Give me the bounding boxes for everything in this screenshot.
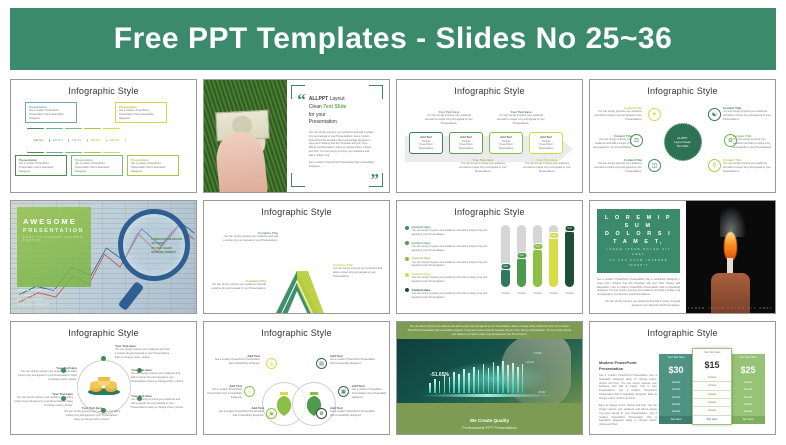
bag-icon[interactable]: ⚲ bbox=[708, 159, 721, 172]
lens-line4: INTEGRE IMPEDIT bbox=[151, 250, 182, 254]
slide-6-title: Infographic Style bbox=[204, 201, 389, 217]
slide-9-callout-5: Your Text Here You can simply impress yo… bbox=[63, 406, 121, 421]
slide-thumbnail-1[interactable]: Infographic Style Presentation Get a mod… bbox=[10, 79, 197, 193]
bullet-dot-icon bbox=[405, 226, 409, 230]
callout-body: Get a modern PowerPoint Presentation tha… bbox=[29, 109, 73, 120]
callout-body: Get a modern PowerPoint Presentation tha… bbox=[75, 162, 119, 173]
slide-7-bullet-list: Content Here You can simply impress your… bbox=[405, 225, 489, 303]
hub-line3: Text Slide bbox=[674, 144, 690, 148]
header-banner: Free PPT Templates - Slides No 25~36 bbox=[10, 8, 776, 70]
top-paragraph: You can simply impress your audience and… bbox=[407, 325, 572, 337]
slide-5-subtitle: EASY TO CHANGE COLORS, PHOTOS. bbox=[23, 236, 91, 242]
column-cell: Content bbox=[659, 394, 693, 401]
footer-line2: Professional PPT Presentation bbox=[397, 425, 582, 430]
heading-textslide: Text Slide bbox=[323, 104, 346, 110]
caption-body: You can simply impress your audience and… bbox=[210, 283, 266, 291]
column-cell: Content bbox=[731, 394, 765, 401]
heading-presentation: Presentation bbox=[309, 119, 374, 127]
gear-icon[interactable]: ⚙ bbox=[316, 408, 327, 419]
slide-6-caption-2: Contents Title You can simply impress yo… bbox=[210, 279, 266, 291]
slide-3-arrow-diagram: Your Text Here You can simply impress yo… bbox=[397, 96, 582, 176]
left-heading-line1: Modern PowerPoint bbox=[599, 360, 637, 365]
slide-thumbnail-7[interactable]: Infographic Style Content Here You can s… bbox=[396, 200, 583, 314]
arrow-step-box-2[interactable]: Add Text Simple PowerPoint Presentation bbox=[489, 132, 523, 154]
slide-10-title: Infographic Style bbox=[204, 322, 389, 338]
left-body: Get a modern PowerPoint Presentation tha… bbox=[599, 374, 657, 400]
heading-foryour: for your bbox=[309, 112, 374, 120]
callout-body: Get a modern PowerPoint Presentation tha… bbox=[19, 162, 63, 173]
item-body: Get a modern PowerPoint Presentation tha… bbox=[330, 410, 376, 418]
slide-9-callout-3: Your Text Here You can simply impress yo… bbox=[17, 366, 77, 381]
column-price: $25 bbox=[731, 362, 765, 379]
column-cell: Content bbox=[659, 379, 693, 386]
cart-icon[interactable]: ☼ bbox=[244, 386, 255, 397]
awesome-heading: AWESOME bbox=[23, 217, 91, 226]
footer-line1: We Create Quality bbox=[397, 418, 582, 423]
slide-2-layout: “ ALLPPT Layout Clean Text Slide for you… bbox=[204, 80, 389, 192]
bullet-body: You can simply impress your audience and… bbox=[412, 229, 490, 237]
slide-8-photo-caption: LOREM IPSUM DOLOR SIT AMET bbox=[686, 306, 775, 310]
slide-3-caption-0: Your Text Here You can simply impress yo… bbox=[425, 110, 473, 125]
slide-1-callout-1: Presentation Get a modern PowerPoint Pre… bbox=[115, 102, 167, 123]
bullet-dot-icon bbox=[405, 273, 409, 277]
bullet-item: Content Here You can simply impress your… bbox=[405, 288, 489, 300]
pricing-table: Your Text Here $30 Content Content Conte… bbox=[659, 354, 765, 425]
slide-7-title: Infographic Style bbox=[397, 201, 582, 217]
bullet-body: You can simply impress your audience and… bbox=[412, 276, 490, 284]
slide-thumbnail-11[interactable]: You can simply impress your audience and… bbox=[396, 321, 583, 435]
slide-3-title: Infographic Style bbox=[397, 80, 582, 96]
column-cell: Content bbox=[731, 386, 765, 393]
left-heading: Modern PowerPoint Presentation bbox=[599, 360, 657, 371]
spoke-body: You can simply impress your audience and… bbox=[592, 138, 632, 149]
heading-layout: Layout bbox=[330, 96, 345, 102]
bullet-item: Content Here You can simply impress your… bbox=[405, 272, 489, 284]
band-line1: L O R E M I P S U M bbox=[601, 214, 676, 230]
chevron-step-0[interactable]: Add Text bbox=[27, 128, 50, 153]
slide-5-footer: LOREM IPSUM DOLOR SIT AMET, CU USU AGAM … bbox=[17, 288, 56, 307]
slide-thumbnail-10[interactable]: Infographic Style ◎ ▤ ☼ ▦ ▣ ⚙ bbox=[203, 321, 390, 435]
bullet-item: Content Here You can simply impress your… bbox=[405, 256, 489, 268]
bullet-body: You can simply impress your audience and… bbox=[412, 261, 490, 269]
slider-knob-0[interactable]: Text bbox=[500, 263, 511, 270]
column-cell: Content bbox=[693, 391, 731, 399]
pricing-column-1[interactable]: Your Text Here $15 Content Content Conte… bbox=[692, 348, 732, 425]
spoke-body: You can simply impress your audience and… bbox=[594, 162, 642, 173]
spoke-body: You can simply impress your audience and… bbox=[723, 162, 771, 173]
band-line2: D O L O R S I T A M E T, bbox=[601, 230, 676, 246]
column-footer: Text Here bbox=[731, 416, 765, 424]
slider-track-0[interactable]: Text bbox=[501, 225, 510, 287]
penrose-triangle-graphic: Your Text Here bbox=[262, 269, 332, 314]
smoke-graphic bbox=[720, 205, 747, 236]
column-footer: Text Here bbox=[659, 416, 693, 424]
slider-track-1[interactable]: Text bbox=[517, 225, 526, 287]
gold-coins-icon bbox=[87, 375, 121, 395]
slide-3-caption-1: Your Text Here You can simply impress yo… bbox=[497, 110, 545, 125]
column-cell: Content bbox=[693, 382, 731, 390]
bullet-dot-icon bbox=[405, 241, 409, 245]
box-icon[interactable]: ▣ bbox=[266, 408, 277, 419]
slide-12-left-text: Modern PowerPoint Presentation Get a mod… bbox=[599, 360, 657, 427]
item-body: Get a modern PowerPoint Presentation tha… bbox=[330, 358, 380, 366]
leaf-icon: ✿ bbox=[675, 313, 680, 314]
callout-body: You can simply impress your audience and… bbox=[63, 410, 121, 421]
slide-4-hub-diagram: ALLPPT Layout Clean Text Slide ☀ ☯ ⚖ ✿ ◫… bbox=[590, 96, 775, 178]
box-line3: Presentation bbox=[499, 147, 514, 151]
bulb-icon[interactable]: ☀ bbox=[648, 108, 661, 121]
slider-track-3[interactable]: Text bbox=[549, 225, 558, 287]
item-body: Get a modern PowerPoint Presentation tha… bbox=[204, 388, 242, 399]
stat-2: +75.2M bbox=[533, 352, 541, 355]
slider-fill-0 bbox=[501, 268, 510, 287]
slide-4-spoke-text-3: Content Title You can simply impress you… bbox=[733, 134, 773, 149]
caption-body: You can simply impress your audience and… bbox=[497, 114, 545, 125]
slide-2-body2: Get a modern PowerPoint Presentation tha… bbox=[309, 161, 374, 169]
footer-line4: INTEGRE IMPEDIT bbox=[17, 302, 56, 307]
heading-clean: Clean bbox=[309, 104, 322, 110]
dollar-on-grass-photo bbox=[204, 80, 287, 192]
slide-6-triangle-diagram: Contents Title You can simply impress yo… bbox=[204, 217, 389, 299]
arrow-step-box-0[interactable]: Add Text Simple PowerPoint Presentation bbox=[409, 132, 443, 154]
slide-8-green-band: L O R E M I P S U M D O L O R S I T A M … bbox=[597, 209, 680, 273]
slide-3-caption-3: Your Text Here You can simply impress yo… bbox=[523, 158, 571, 173]
briefcase-icon[interactable]: ▤ bbox=[316, 358, 327, 369]
spoke-body: You can simply impress your audience and… bbox=[733, 138, 773, 149]
box-line3: Presentation bbox=[459, 147, 474, 151]
slide-6-caption-0: Contents Title You can simply impress yo… bbox=[222, 231, 278, 243]
stat-3: +18.4% bbox=[526, 361, 534, 364]
slider-track-2[interactable]: Text bbox=[533, 225, 542, 287]
slide-12-title: Infographic Style bbox=[590, 322, 775, 338]
slide-2-heading: ALLPPT Layout Clean Text Slide for your … bbox=[309, 96, 374, 127]
slide-4-title: Infographic Style bbox=[590, 80, 775, 96]
slide-thumbnail-5[interactable]: LOREM IPSUM DOLOR SIT AMET, CU USU AGAM … bbox=[10, 200, 197, 314]
column-cell: Content bbox=[659, 408, 693, 415]
slider-fill-4 bbox=[565, 230, 574, 287]
slide-1-callout-3: Presentation Get a modern PowerPoint Pre… bbox=[71, 155, 123, 176]
slide-9-circle-diagram: Your Text Here You can simply impress yo… bbox=[11, 338, 196, 422]
slide-9-callout-2: Your Text Here You can simply impress yo… bbox=[131, 394, 185, 409]
box-line3: Presentation bbox=[539, 147, 554, 151]
callout-body: You can simply impress your audience and… bbox=[131, 398, 185, 409]
slide-10-item-3: Add Text Get a modern PowerPoint Present… bbox=[352, 384, 390, 399]
item-body: Get a modern PowerPoint Presentation tha… bbox=[210, 358, 260, 366]
frame-corner-bl bbox=[291, 173, 305, 187]
stat-4: 38.2M bbox=[538, 391, 545, 394]
slider-fill-2 bbox=[533, 249, 542, 287]
slide-thumbnail-6[interactable]: Infographic Style Contents Title You can… bbox=[203, 200, 390, 314]
slide-8-layout: L O R E M I P S U M D O L O R S I T A M … bbox=[590, 201, 775, 313]
callout-body: You can simply impress your audience and… bbox=[115, 348, 171, 359]
slide-1-callout-0: Presentation Get a modern PowerPoint Pre… bbox=[25, 102, 77, 123]
slide-10-item-2: Add Text Get a modern PowerPoint Present… bbox=[204, 384, 242, 399]
slide-4-spoke-text-4: Content Title You can simply impress you… bbox=[594, 158, 642, 173]
heading-allppt: ALLPPT bbox=[309, 96, 328, 102]
page-root: Free PPT Templates - Slides No 25~36 Inf… bbox=[0, 0, 786, 445]
spoke-body: You can simply impress your audience and… bbox=[594, 110, 642, 121]
slide-1-callout-4: Presentation Get a modern PowerPoint Pre… bbox=[127, 155, 179, 176]
slide-thumbnail-3[interactable]: Infographic Style Your Text Here You can… bbox=[396, 79, 583, 193]
caption-body: You can simply impress your audience and… bbox=[222, 235, 278, 243]
slide-9-title: Infographic Style bbox=[11, 322, 196, 338]
handshake-icon[interactable]: ☯ bbox=[708, 108, 721, 121]
slider-track-4[interactable]: Text bbox=[565, 225, 574, 287]
callout-body: Get a modern PowerPoint Presentation tha… bbox=[131, 162, 175, 173]
arrow-step-box-1[interactable]: Add Text Simple PowerPoint Presentation bbox=[449, 132, 483, 154]
slider-knob-3[interactable]: Text bbox=[548, 232, 559, 239]
slide-4-spoke-text-0: Content Title You can simply impress you… bbox=[594, 106, 642, 121]
slider-knob-2[interactable]: Text bbox=[532, 243, 543, 250]
arrow-step-box-3[interactable]: Add Text Simple PowerPoint Presentation bbox=[529, 132, 563, 154]
slide-10-item-1: Add Text Get a modern PowerPoint Present… bbox=[330, 354, 380, 366]
spoke-body: You can simply impress your audience and… bbox=[723, 110, 771, 121]
magnifier-chart-photo: LOREM IPSUM DOLOR SIT AMET, CU USU AGAM … bbox=[11, 201, 196, 313]
slide-1-callout-2: Presentation Get a modern PowerPoint Pre… bbox=[15, 155, 67, 176]
slide-4-spoke-text-2: Content Title You can simply impress you… bbox=[592, 134, 632, 149]
left-body2: Easy to change colors, photos and Text. … bbox=[599, 404, 657, 427]
item-body: Get a modern PowerPoint Presentation tha… bbox=[352, 388, 390, 399]
footer-line1: LOREM IPSUM DOLOR bbox=[17, 288, 56, 293]
slide-thumbnail-8[interactable]: L O R E M I P S U M D O L O R S I T A M … bbox=[589, 200, 776, 314]
banner-title: Free PPT Templates - Slides No 25~36 bbox=[114, 22, 673, 56]
circle-dot bbox=[101, 356, 106, 361]
slide-2-body: You can simply impress your audience and… bbox=[309, 131, 374, 157]
column-cell: Content bbox=[731, 379, 765, 386]
slide-10-item-4: Add Text Get a modern PowerPoint Present… bbox=[218, 406, 264, 418]
callout-body: You can simply impress your audience and… bbox=[131, 372, 185, 383]
slider-knob-1[interactable]: Text bbox=[516, 252, 527, 259]
column-cell: Content bbox=[693, 374, 731, 382]
burning-match-photo: LOREM IPSUM DOLOR SIT AMET bbox=[686, 201, 775, 313]
slide-9-callout-0: Your Text Here You can simply impress yo… bbox=[115, 344, 171, 359]
presentation-heading: PRESENTATION bbox=[23, 228, 91, 234]
slide-4-spoke-text-5: Content Title You can simply impress you… bbox=[723, 158, 771, 173]
slide-1-title: Infographic Style bbox=[11, 80, 196, 96]
quote-open-icon: “ bbox=[297, 94, 306, 169]
column-price: $30 bbox=[659, 362, 693, 379]
slide-8-text-area: L O R E M I P S U M D O L O R S I T A M … bbox=[590, 201, 686, 313]
bullet-item: Content Here You can simply impress your… bbox=[405, 225, 489, 237]
column-cell: Content bbox=[731, 408, 765, 415]
callout-body: You can simply impress your audience and… bbox=[17, 370, 77, 381]
slide-10-venn-diagram: ◎ ▤ ☼ ▦ ▣ ⚙ Add Text Get a modern PowerP… bbox=[204, 338, 389, 422]
slide-1-chevron-diagram: Presentation Get a modern PowerPoint Pre… bbox=[11, 98, 196, 176]
band-line3: LOREM IPSUM DOLOR SIT AMET bbox=[601, 248, 676, 257]
glowing-platform bbox=[419, 394, 556, 397]
hub-center: ALLPPT Layout Clean Text Slide bbox=[664, 123, 702, 161]
pricing-column-0[interactable]: Your Text Here $30 Content Content Conte… bbox=[659, 354, 693, 424]
monitor-icon[interactable]: ▦ bbox=[338, 386, 349, 397]
column-footer: Text Here bbox=[693, 416, 731, 424]
slide-3-caption-2: Your Text Here You can simply impress yo… bbox=[459, 158, 507, 173]
column-cell: Content bbox=[693, 399, 731, 407]
slide-thumbnail-2[interactable]: “ ALLPPT Layout Clean Text Slide for you… bbox=[203, 79, 390, 193]
slide-4-spoke-text-1: Content Title You can simply impress you… bbox=[723, 106, 771, 121]
slide-thumbnail-12[interactable]: Infographic Style Modern PowerPoint Pres… bbox=[589, 321, 776, 435]
slider-fill-3 bbox=[549, 237, 558, 287]
slide-10-item-0: Add Text Get a modern PowerPoint Present… bbox=[210, 354, 260, 366]
slider-fill-1 bbox=[517, 257, 526, 287]
band-line4: CU USU AGAM INTEGRE IMPEDIT bbox=[601, 259, 676, 268]
slider-label-4: Content bbox=[560, 292, 579, 295]
bullet-item: Content Here You can simply impress your… bbox=[405, 241, 489, 253]
caption-body: You can simply impress your audience and… bbox=[459, 162, 507, 173]
bullet-dot-icon bbox=[405, 257, 409, 261]
column-price: $15 bbox=[693, 357, 731, 374]
caption-body: You can simply impress your audience and… bbox=[425, 114, 473, 125]
column-header: Your Text Here bbox=[693, 349, 731, 357]
pricing-column-2[interactable]: Your Text Here $25 Content Content Conte… bbox=[731, 354, 765, 424]
slide-7-slider-chart: Content Here You can simply impress your… bbox=[397, 217, 582, 299]
callout-body: Get a modern PowerPoint Presentation tha… bbox=[119, 109, 163, 120]
slide-8-list: Simple Portfolio Presentation ✿ Presenta… bbox=[597, 313, 680, 314]
slide-10-item-5: Add Text Get a modern PowerPoint Present… bbox=[330, 406, 376, 418]
money-bag-icon bbox=[274, 390, 294, 418]
slide-thumbnail-9[interactable]: Infographic Style bbox=[10, 321, 197, 435]
bullet-body: You can simply impress your audience and… bbox=[412, 292, 490, 300]
data-chart-hand-photo: -51.65% +75.2M +18.4% 38.2M bbox=[397, 339, 582, 403]
bullet-body: You can simply impress your audience and… bbox=[412, 245, 490, 253]
quote-close-icon: ” bbox=[371, 174, 380, 186]
coins-icon[interactable]: ◫ bbox=[648, 159, 661, 172]
column-header: Your Text Here bbox=[731, 354, 765, 362]
stat-main: -51.65% bbox=[430, 372, 449, 378]
column-header: Your Text Here bbox=[659, 354, 693, 362]
list-item[interactable]: Simple Portfolio Presentation ✿ bbox=[597, 313, 680, 314]
target-icon[interactable]: ◎ bbox=[266, 358, 277, 369]
column-cell: Content bbox=[659, 401, 693, 408]
slide-5-lens-text: LOREM IPSUM DOLOR SIT AMET, CU USU AGAM … bbox=[151, 237, 182, 255]
column-cell: Content bbox=[693, 407, 731, 415]
slide-11-top-text: You can simply impress your audience and… bbox=[397, 322, 582, 339]
bullet-dot-icon bbox=[405, 288, 409, 292]
slide-1-chevron-row: Add Text Add Text Add Text Add Text Add … bbox=[27, 128, 122, 153]
column-cell: Content bbox=[731, 401, 765, 408]
slide-5-green-panel: AWESOME PRESENTATION EASY TO CHANGE COLO… bbox=[17, 207, 91, 287]
slide-11-footer: We Create Quality Professional PPT Prese… bbox=[397, 415, 582, 434]
left-heading-line2: Presentation bbox=[599, 366, 623, 371]
slide-9-callout-1: Your Text Here You can simply impress yo… bbox=[131, 368, 185, 383]
caption-body: You can simply impress your audience and… bbox=[333, 267, 385, 278]
slide-8-body2: You can simply impress your audience and… bbox=[597, 300, 680, 308]
column-cell: Content bbox=[659, 386, 693, 393]
flame-graphic bbox=[724, 232, 736, 261]
slider-knob-4[interactable]: Text bbox=[564, 225, 575, 232]
slide-8-body: Get a modern PowerPoint Presentation tha… bbox=[597, 278, 680, 297]
slide-2-text-area: “ ALLPPT Layout Clean Text Slide for you… bbox=[287, 80, 389, 192]
slide-6-caption-1: Contents Title You can simply impress yo… bbox=[333, 263, 385, 278]
item-body: Get a modern PowerPoint Presentation tha… bbox=[218, 410, 264, 418]
slide-thumbnail-4[interactable]: Infographic Style ALLPPT Layout Clean Te… bbox=[589, 79, 776, 193]
slide-11-layout: You can simply impress your audience and… bbox=[397, 322, 582, 434]
box-line3: Presentation bbox=[419, 147, 434, 151]
slide-thumbnail-grid: Infographic Style Presentation Get a mod… bbox=[10, 79, 776, 435]
caption-body: You can simply impress your audience and… bbox=[523, 162, 571, 173]
